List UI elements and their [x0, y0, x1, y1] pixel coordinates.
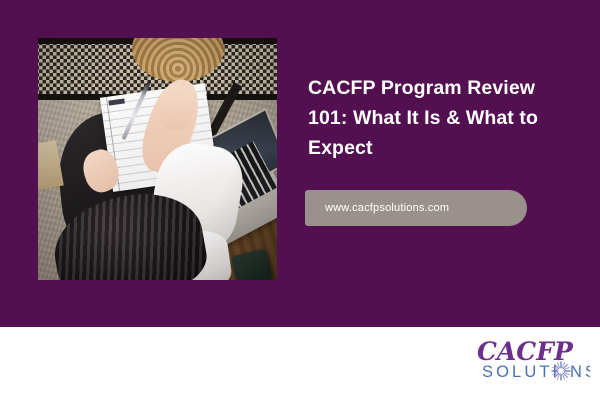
cacfp-solutions-logo: CACFP SOLUTI NS	[476, 338, 590, 382]
hero-photo	[38, 38, 277, 280]
promo-graphic: CACFP Program Review 101: What It Is & W…	[0, 0, 600, 400]
photo-vignette	[38, 38, 277, 280]
website-url-bar[interactable]: www.cacfpsolutions.com	[305, 190, 527, 226]
headline-title: CACFP Program Review 101: What It Is & W…	[308, 73, 570, 163]
website-url-text: www.cacfpsolutions.com	[325, 190, 449, 226]
starburst-icon	[552, 362, 570, 380]
logo-script-wordmark: CACFP	[477, 338, 574, 366]
logo-block-wordmark-before: SOLUTI	[482, 363, 560, 381]
logo-block-wordmark-after: NS	[570, 363, 590, 381]
